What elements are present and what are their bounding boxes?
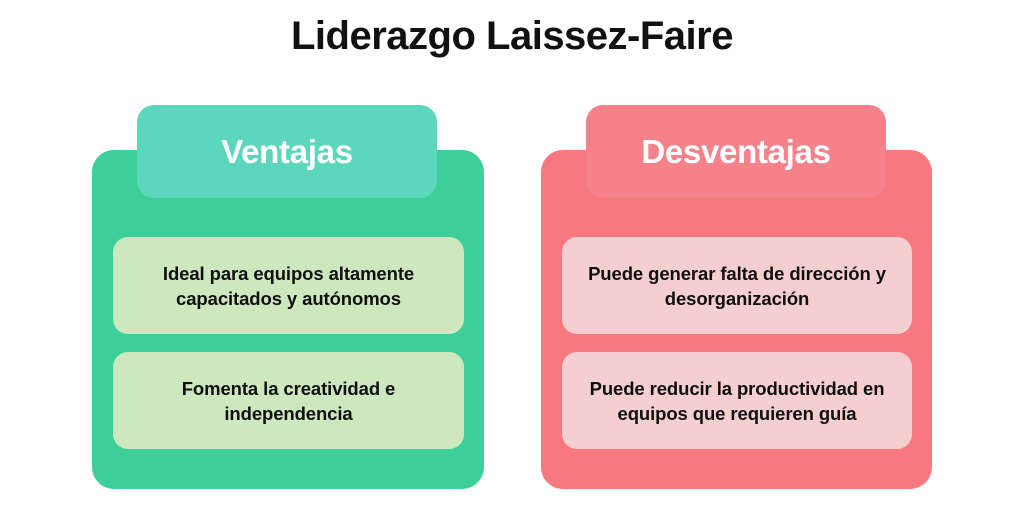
page-title: Liderazgo Laissez-Faire [0,10,1024,62]
infographic-canvas: Liderazgo Laissez-Faire Ventajas Ideal p… [0,0,1024,516]
disadvantages-item-2-text: Puede reducir la productividad en equipo… [578,376,896,426]
advantages-item-1-text: Ideal para equipos altamente capacitados… [129,261,448,311]
advantages-header-label: Ventajas [221,132,353,172]
disadvantages-item-list: Puede generar falta de dirección y desor… [562,237,912,449]
disadvantages-header: Desventajas [586,105,886,198]
list-item: Puede generar falta de dirección y desor… [562,237,912,334]
advantages-item-list: Ideal para equipos altamente capacitados… [113,237,464,449]
advantages-item-2-text: Fomenta la creatividad e independencia [129,376,448,426]
list-item: Ideal para equipos altamente capacitados… [113,237,464,334]
advantages-header: Ventajas [137,105,437,198]
disadvantages-column: Desventajas Puede generar falta de direc… [541,150,932,489]
disadvantages-item-1-text: Puede generar falta de dirección y desor… [578,261,896,311]
disadvantages-header-label: Desventajas [641,132,830,172]
list-item: Puede reducir la productividad en equipo… [562,352,912,449]
list-item: Fomenta la creatividad e independencia [113,352,464,449]
advantages-column: Ventajas Ideal para equipos altamente ca… [92,150,484,489]
